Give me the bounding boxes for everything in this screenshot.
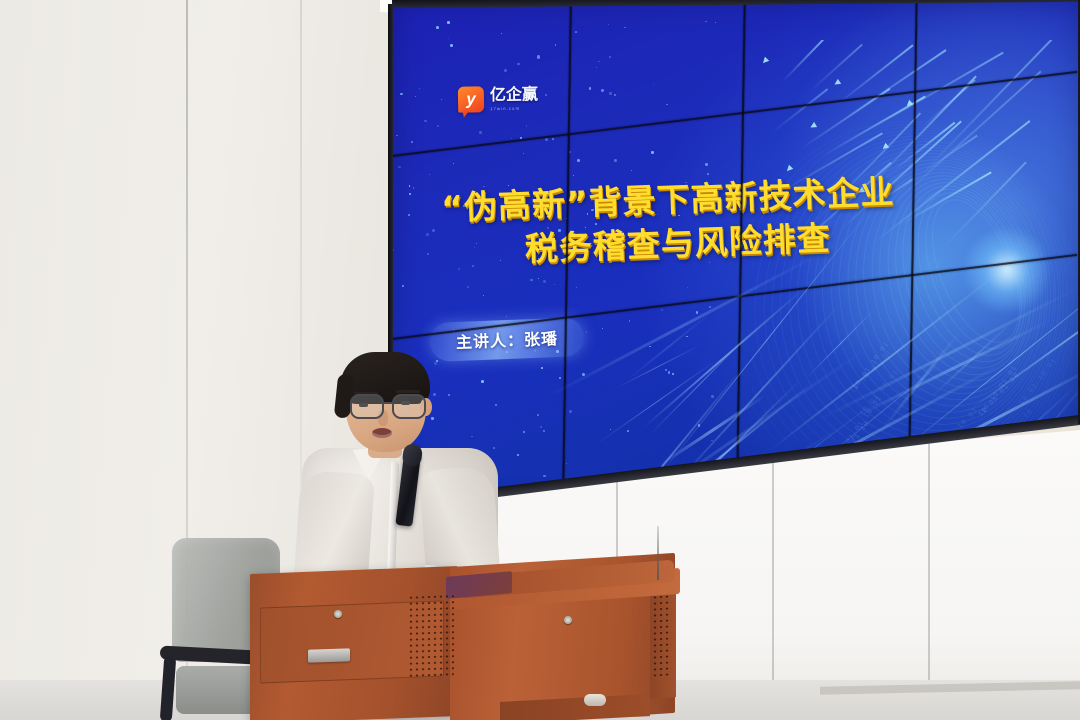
podium-drawer-handle[interactable] bbox=[308, 648, 350, 662]
binary-decoration: 01 01 10 01 bbox=[925, 448, 970, 495]
brand-name: 亿企赢 bbox=[490, 87, 538, 104]
presenter-eyebrow bbox=[396, 390, 420, 393]
brand-logo: y 亿企赢 17win.com bbox=[458, 85, 538, 112]
speech-bubble-logo-icon: y bbox=[458, 86, 484, 112]
podium-speaker-grille bbox=[408, 593, 454, 679]
speaker-badge-label: 主讲人：张璠 bbox=[456, 331, 559, 352]
podium-knob[interactable] bbox=[584, 694, 606, 706]
eyeglasses-icon bbox=[348, 394, 430, 416]
podium-speaker-grille bbox=[652, 593, 672, 676]
binary-decoration: 10 01 01 10 bbox=[945, 438, 990, 485]
podium-lock-icon[interactable] bbox=[564, 616, 572, 624]
glasses-lens bbox=[392, 394, 426, 419]
light-streak bbox=[884, 439, 972, 517]
light-streak bbox=[943, 439, 1045, 501]
star-dot bbox=[665, 483, 668, 486]
brand-subtext: 17win.com bbox=[490, 105, 538, 111]
binary-decoration: 01 01 10 01 bbox=[1015, 453, 1054, 505]
logo-glyph: y bbox=[458, 86, 484, 112]
glasses-lens bbox=[350, 394, 384, 419]
podium-gooseneck-mic[interactable] bbox=[657, 526, 659, 580]
star-dot bbox=[714, 482, 715, 483]
wooden-podium[interactable] bbox=[250, 552, 670, 720]
glasses-bridge bbox=[381, 402, 393, 404]
slide-title: “伪高新”背景下高新技术企业 税务稽查与风险排查 bbox=[413, 164, 1056, 276]
podium-lock-icon[interactable] bbox=[334, 610, 342, 618]
screenshot-root: y 亿企赢 17win.com “伪高新”背景下高新技术企业 税务稽查与风险排查… bbox=[0, 0, 1080, 720]
presenter-mouth bbox=[372, 428, 392, 438]
